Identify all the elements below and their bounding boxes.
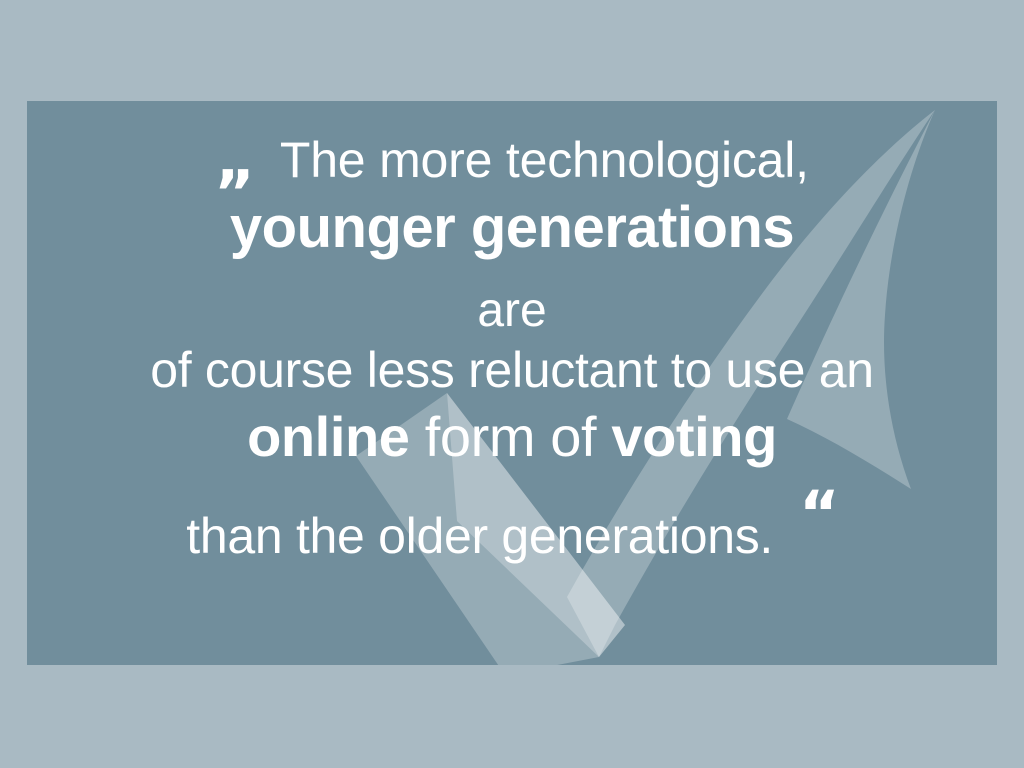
quote-line-1-text: The more technological, <box>280 135 809 185</box>
quote-card-canvas: „ The more technological, younger genera… <box>0 0 1024 768</box>
quote-line-3: are <box>27 287 997 335</box>
close-quote-icon: “ <box>799 495 838 532</box>
quote-panel: „ The more technological, younger genera… <box>27 101 997 665</box>
quote-line-5: online form of voting <box>27 409 997 465</box>
quote-text-block: „ The more technological, younger genera… <box>27 101 997 665</box>
quote-line-6-text: than the older generations. <box>186 511 773 561</box>
quote-line-5-segment-1: online <box>247 405 425 468</box>
quote-line-4: of course less reluctant to use an <box>27 345 997 395</box>
quote-line-2: younger generations <box>27 199 997 257</box>
quote-line-6: than the older generations. “ <box>27 511 997 561</box>
open-quote-icon: „ <box>215 141 254 178</box>
quote-line-5-segment-3: voting <box>611 405 777 468</box>
quote-line-5-segment-2: form of <box>425 405 612 468</box>
quote-line-1: „ The more technological, <box>27 135 997 185</box>
